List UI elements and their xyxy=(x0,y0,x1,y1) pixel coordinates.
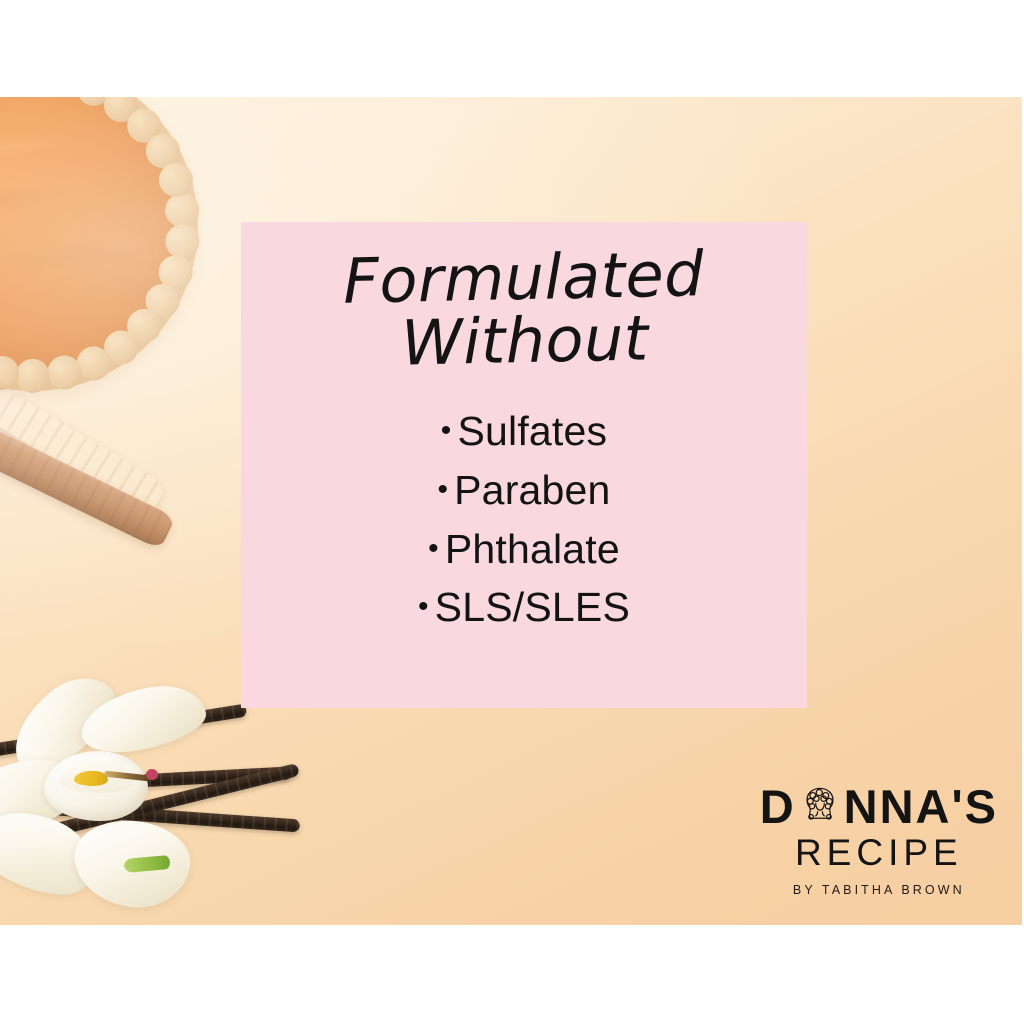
list-item: •Phthalate xyxy=(241,520,807,579)
list-item-label: Paraben xyxy=(454,467,610,513)
panel-title: Formulated Without xyxy=(239,216,808,378)
bullet-icon: • xyxy=(437,473,448,506)
excluded-ingredients-list: •Sulfates•Paraben•Phthalate•SLS/SLES xyxy=(241,402,807,637)
list-item: •Paraben xyxy=(241,461,807,520)
list-item-label: Sulfates xyxy=(457,408,607,454)
curly-hair-head-icon xyxy=(797,784,843,830)
list-item: •SLS/SLES xyxy=(241,578,807,637)
brand-byline: BY TABITHA BROWN xyxy=(760,883,998,897)
sweet-potato-pie-image xyxy=(0,97,214,407)
brand-wordmark-suffix: NNA'S xyxy=(844,783,998,830)
brand-logo: D xyxy=(760,783,998,897)
vanilla-flower-image xyxy=(0,689,368,925)
list-item: •Sulfates xyxy=(241,402,807,461)
formulated-without-panel: Formulated Without •Sulfates•Paraben•Pht… xyxy=(241,222,807,708)
list-item-label: Phthalate xyxy=(445,526,620,572)
vanilla-anther xyxy=(74,771,108,786)
screenshot-canvas: Formulated Without •Sulfates•Paraben•Pht… xyxy=(0,0,1024,1024)
cinnamon-sticks-image xyxy=(0,385,226,615)
brand-wordmark: D xyxy=(760,783,998,830)
bullet-icon: • xyxy=(428,532,439,565)
brand-product-word: RECIPE xyxy=(760,834,998,871)
vanilla-stamen-tip xyxy=(146,769,158,780)
bullet-icon: • xyxy=(418,590,429,623)
list-item-label: SLS/SLES xyxy=(435,584,630,630)
brand-wordmark-prefix: D xyxy=(760,783,796,830)
bullet-icon: • xyxy=(441,414,452,447)
product-banner: Formulated Without •Sulfates•Paraben•Pht… xyxy=(0,97,1022,925)
